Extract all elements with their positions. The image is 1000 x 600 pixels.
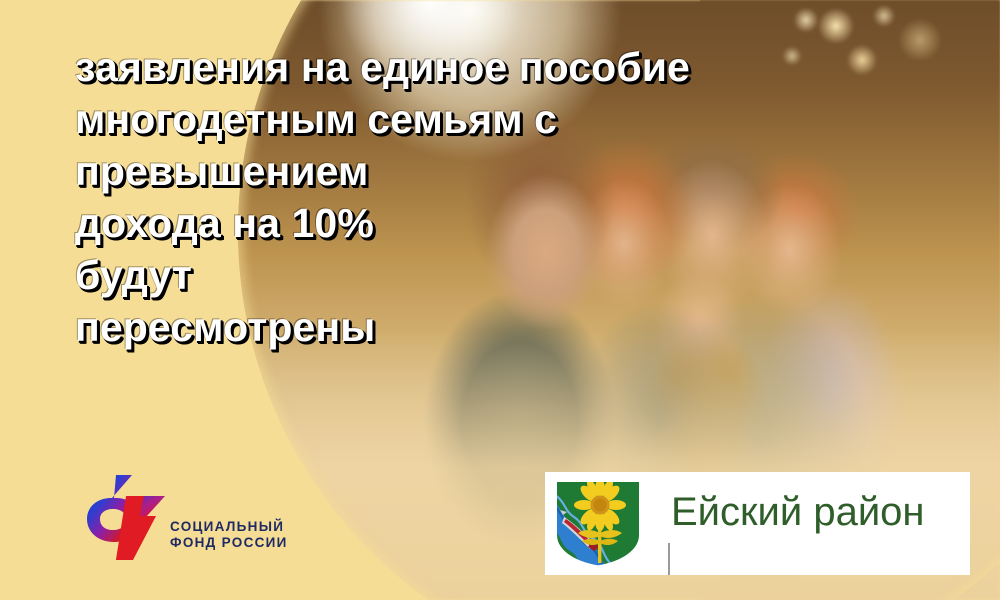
- social-fund-logo-line-2: ФОНД РОССИИ: [170, 535, 288, 551]
- headline-line-6: пересмотрены: [75, 301, 685, 353]
- sfr-monogram-icon: [70, 472, 175, 562]
- yeisk-coat-of-arms-icon: [554, 479, 642, 568]
- headline-line-1: заявления на единое пособие: [75, 41, 685, 93]
- headline-line-4: дохода на 10%: [75, 197, 685, 249]
- headline-line-2: многодетным семьям с: [75, 93, 685, 145]
- social-fund-logo-text: СОЦИАЛЬНЫЙ ФОНД РОССИИ: [170, 519, 288, 551]
- text-caret: [668, 543, 670, 575]
- social-fund-logo-line-1: СОЦИАЛЬНЫЙ: [170, 519, 288, 535]
- district-plate: Ейский район: [545, 472, 970, 575]
- district-plate-title: Ейский район: [671, 488, 925, 536]
- headline: заявления на единое пособие многодетным …: [75, 41, 685, 353]
- headline-line-5: будут: [75, 249, 685, 301]
- headline-line-3: превышением: [75, 145, 685, 197]
- social-fund-logo: СОЦИАЛЬНЫЙ ФОНД РОССИИ: [70, 472, 285, 582]
- poster-canvas: заявления на единое пособие многодетным …: [0, 0, 1000, 600]
